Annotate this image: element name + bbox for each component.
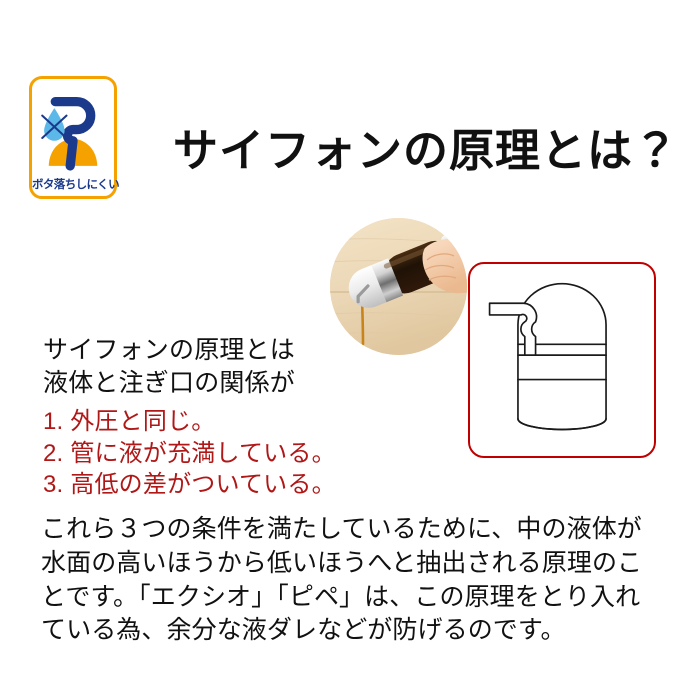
condition-item-2: 2. 管に液が充満している。: [43, 438, 403, 470]
closing-line-1: これら３つの条件を満たしているために、中の液体が: [41, 513, 666, 547]
closing-paragraph: これら３つの条件を満たしているために、中の液体が 水面の高いほうから低いほうへと…: [41, 513, 666, 648]
siphon-tube: [490, 303, 537, 355]
page-title: サイフォンの原理とは？: [173, 126, 693, 176]
no-drip-logo-badge: ボタ落ちしにくい: [29, 76, 117, 199]
conditions-list: 1. 外圧と同じ。 2. 管に液が充満している。 3. 高低の差がついている。: [43, 406, 403, 501]
siphon-diagram: [470, 264, 654, 456]
intro-paragraph: サイフォンの原理とは 液体と注ぎ口の関係が: [43, 334, 373, 401]
closing-line-2: 水面の高いほうから低いほうへと抽出される原理のこ: [41, 547, 666, 581]
intro-line-1: サイフォンの原理とは: [43, 334, 373, 367]
closing-line-3: とです。「エクシオ」「ピペ」は、この原理をとり入れ: [41, 581, 666, 615]
intro-line-2: 液体と注ぎ口の関係が: [43, 367, 373, 400]
closing-line-4: ている為、余分な液ダレなどが防げるのです。: [41, 614, 666, 648]
logo-caption: ボタ落ちしにくい: [32, 180, 114, 192]
water-droplet-icon: [44, 108, 64, 141]
siphon-diagram-panel: [468, 262, 656, 458]
infographic-page: ボタ落ちしにくい サイフォンの原理とは？: [0, 0, 700, 700]
header: ボタ落ちしにくい サイフォンの原理とは？: [0, 0, 700, 215]
condition-item-1: 1. 外圧と同じ。: [43, 406, 403, 438]
condition-item-3: 3. 高低の差がついている。: [43, 469, 403, 501]
